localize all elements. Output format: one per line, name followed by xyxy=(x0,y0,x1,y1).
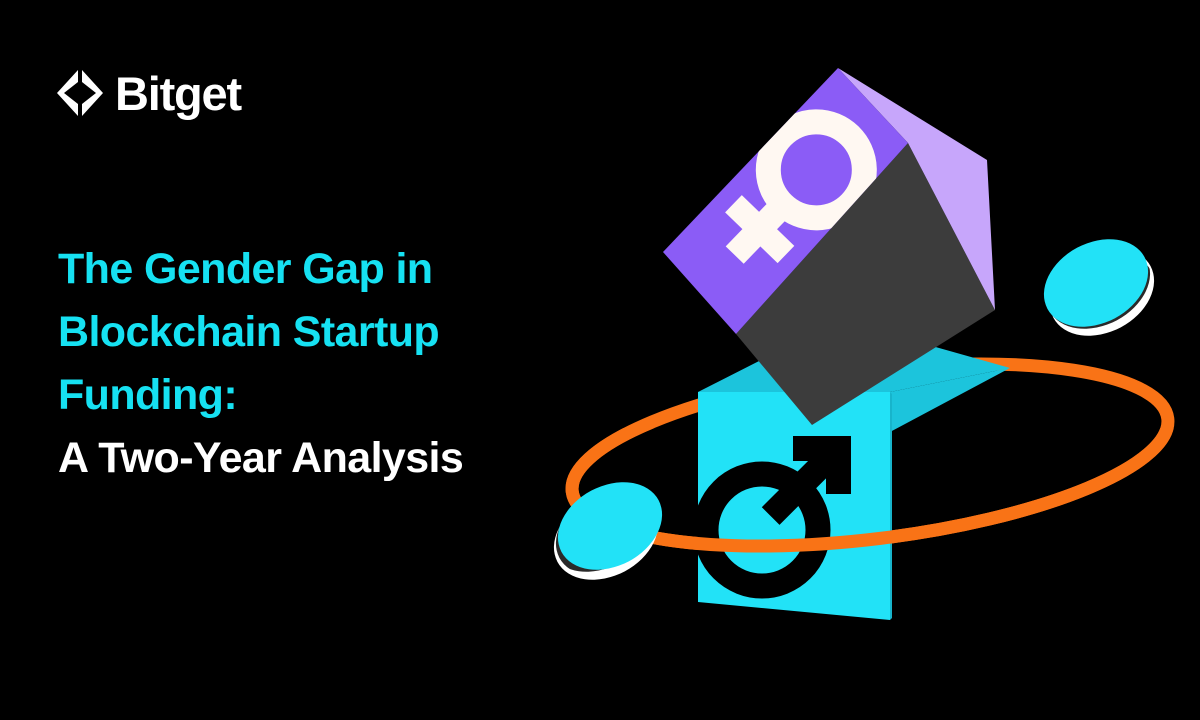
brand-logo[interactable]: Bitget xyxy=(57,68,241,118)
headline-block: The Gender Gap in Blockchain Startup Fun… xyxy=(58,238,618,490)
poster-canvas: Bitget The Gender Gap in Blockchain Star… xyxy=(0,0,1200,720)
bitget-chevron-logo-icon xyxy=(57,68,103,118)
cyan-coin-right xyxy=(1029,222,1170,357)
headline-line-3: Funding: xyxy=(58,364,618,427)
headline-line-1: The Gender Gap in xyxy=(58,238,618,301)
male-cube-right-face xyxy=(890,392,892,620)
cyan-coin-left xyxy=(540,465,677,597)
brand-name: Bitget xyxy=(115,70,241,117)
illustration-svg xyxy=(540,20,1200,700)
gender-cubes-illustration xyxy=(540,20,1200,700)
headline-line-2: Blockchain Startup xyxy=(58,301,618,364)
headline-line-4: A Two-Year Analysis xyxy=(58,427,618,490)
